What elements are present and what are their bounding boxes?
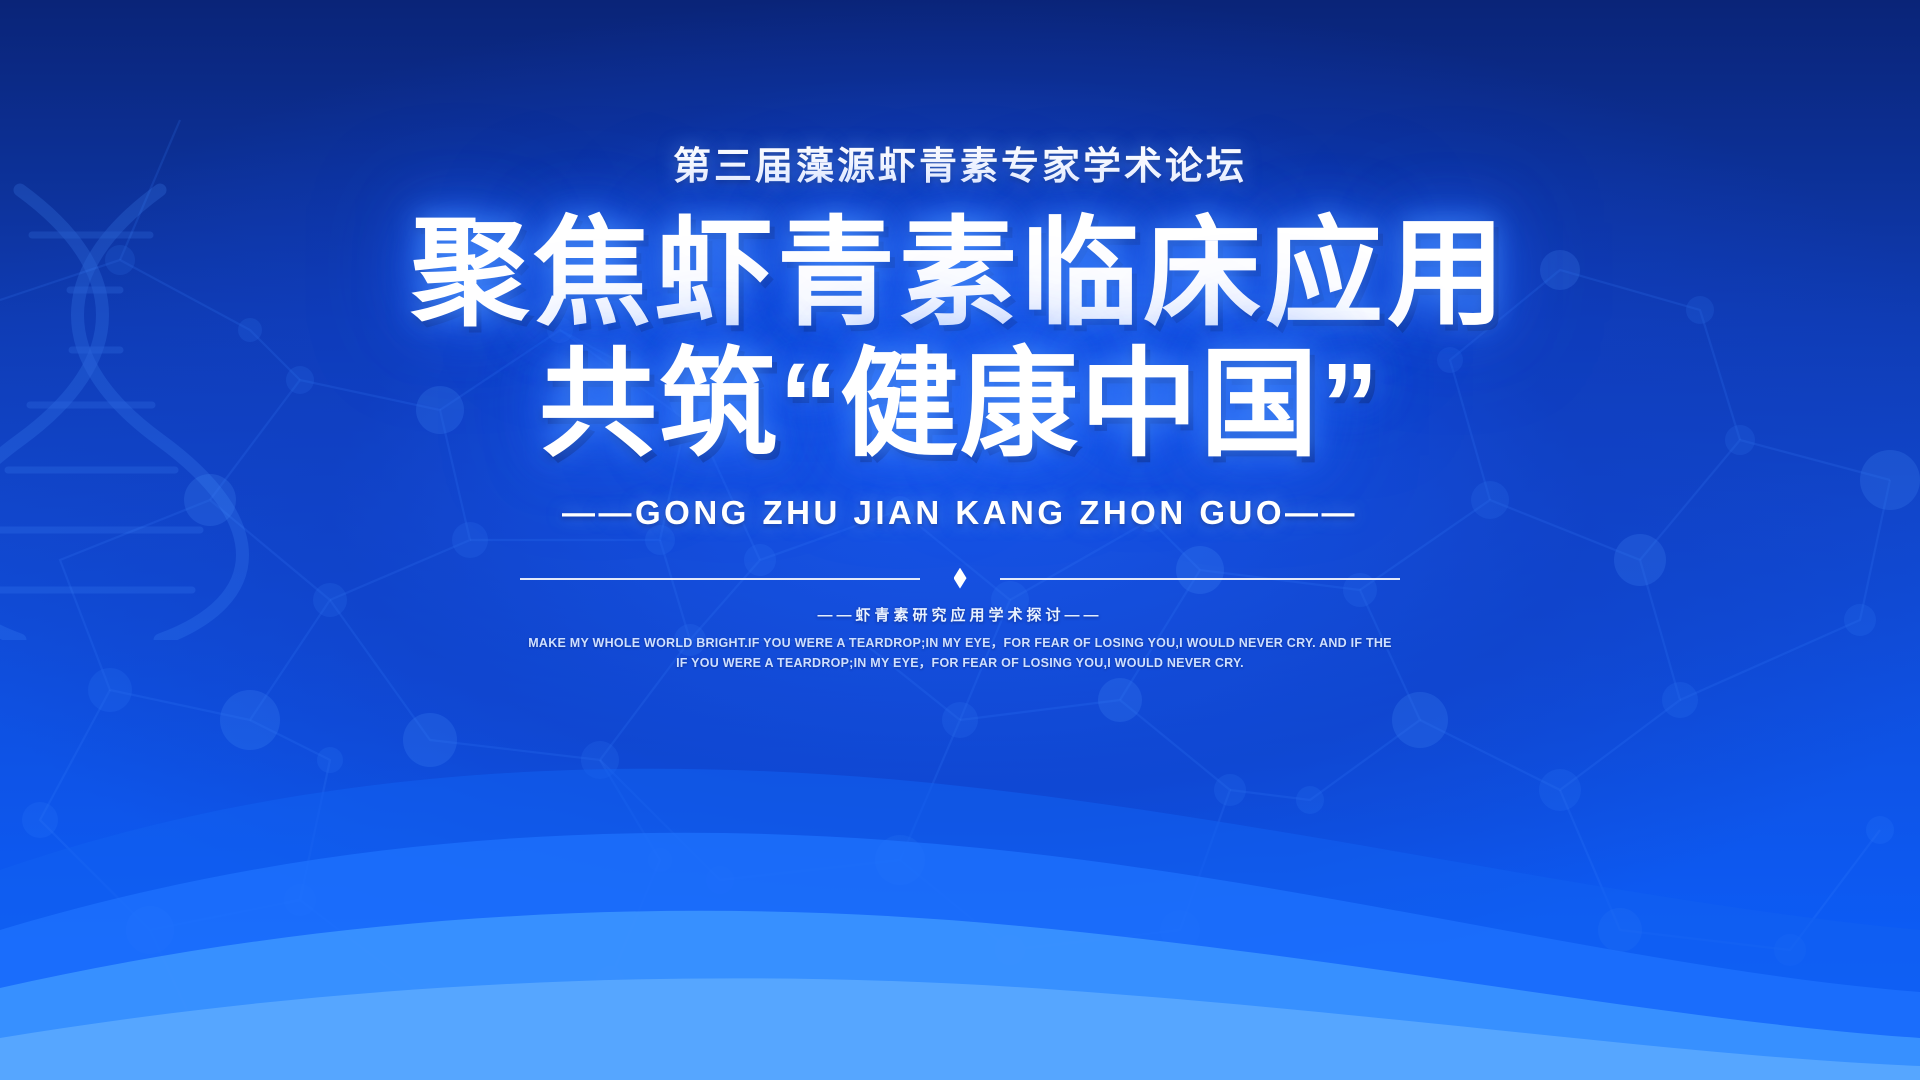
headline-line-2: 共筑“健康中国” [539, 343, 1381, 468]
pinyin-subtitle: ——GONG ZHU JIAN KANG ZHON GUO—— [562, 494, 1358, 532]
divider-line-right [1000, 578, 1400, 580]
banner-content: 第三届藻源虾青素专家学术论坛 聚焦虾青素临床应用 共筑“健康中国” ——GONG… [0, 0, 1920, 673]
divider [520, 570, 1400, 586]
conference-banner: 第三届藻源虾青素专家学术论坛 聚焦虾青素临床应用 共筑“健康中国” ——GONG… [0, 0, 1920, 1080]
fineprint-line-2: IF YOU WERE A TEARDROP;IN MY EYE，FOR FEA… [528, 654, 1391, 673]
divider-line-left [520, 578, 920, 580]
theme-subnote: ——虾青素研究应用学术探讨—— [817, 604, 1102, 625]
headline-block: 聚焦虾青素临床应用 共筑“健康中国” [411, 212, 1509, 468]
fineprint-line-1: MAKE MY WHOLE WORLD BRIGHT.IF YOU WERE A… [528, 634, 1391, 653]
event-eyebrow-title: 第三届藻源虾青素专家学术论坛 [673, 135, 1247, 190]
diamond-ornament-icon [954, 568, 967, 589]
fineprint-block: MAKE MY WHOLE WORLD BRIGHT.IF YOU WERE A… [528, 634, 1391, 673]
wave-ribbon-graphic [0, 720, 1920, 1080]
headline-line-1: 聚焦虾青素临床应用 [411, 212, 1509, 337]
